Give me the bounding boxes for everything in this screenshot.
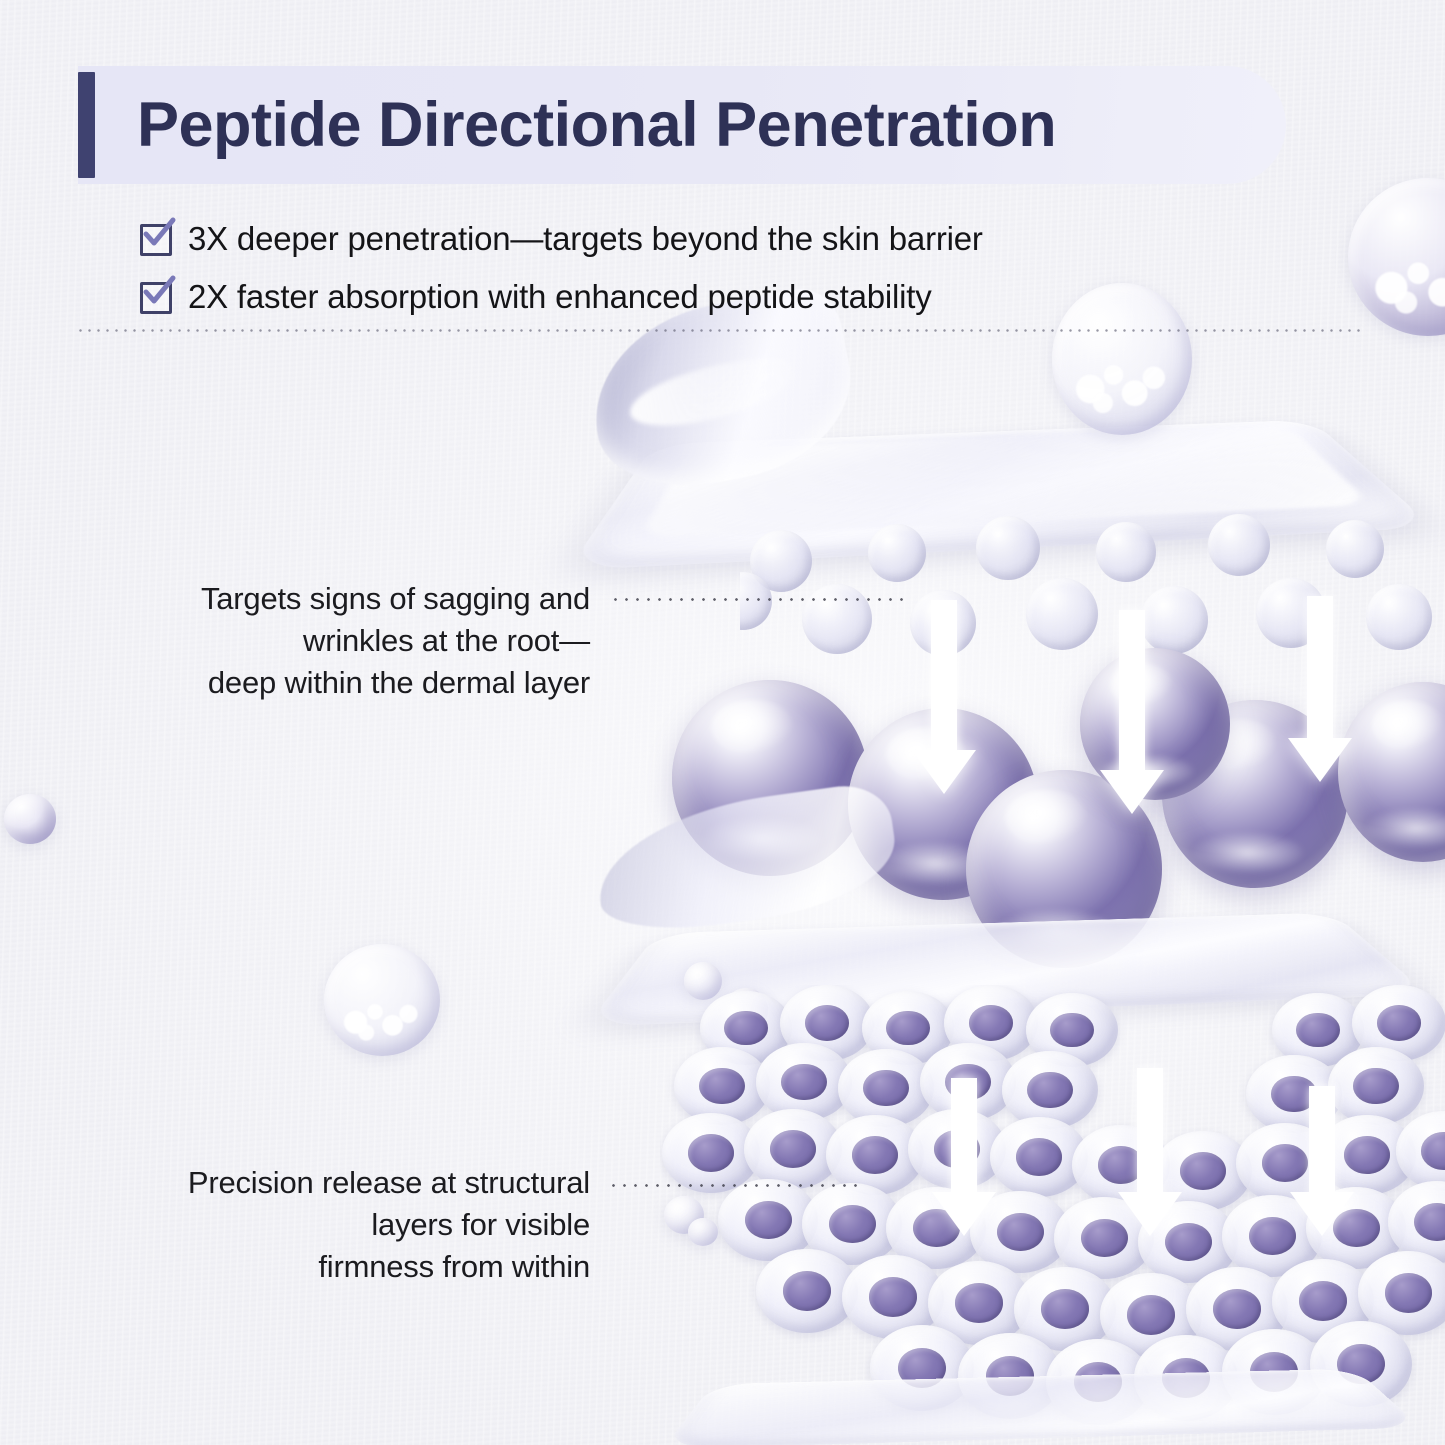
callout-line: layers for visible <box>80 1204 590 1246</box>
dermal-layer-callout: Targets signs of sagging and wrinkles at… <box>110 578 590 704</box>
droplet-foam <box>1367 244 1445 317</box>
floating-droplet <box>324 944 440 1056</box>
callout-line: deep within the dermal layer <box>110 662 590 704</box>
title-accent-bar <box>78 72 95 178</box>
page-title: Peptide Directional Penetration <box>137 66 1056 184</box>
list-item: 2X faster absorption with enhanced pepti… <box>140 270 1100 324</box>
callout-line: Targets signs of sagging and <box>110 578 590 620</box>
callout-line: Precision release at structural <box>80 1162 590 1204</box>
list-item-label: 2X faster absorption with enhanced pepti… <box>188 278 932 316</box>
checkbox-checked-icon <box>140 224 171 255</box>
structural-layer-callout: Precision release at structural layers f… <box>80 1162 590 1288</box>
downward-penetration-arrow <box>912 600 976 800</box>
feature-bullet-list: 3X deeper penetration—targets beyond the… <box>140 212 1100 328</box>
glass-sheet-curl <box>589 780 903 941</box>
downward-penetration-arrow <box>1118 1068 1182 1238</box>
dotted-leader-line <box>610 598 910 601</box>
downward-penetration-arrow <box>1288 596 1352 786</box>
droplet-foam <box>338 991 426 1043</box>
infographic-canvas: Peptide Directional Penetration 3X deepe… <box>0 0 1445 1445</box>
dotted-divider <box>76 329 1366 332</box>
dotted-leader-line <box>608 1184 860 1187</box>
checkbox-checked-icon <box>140 282 171 313</box>
list-item-label: 3X deeper penetration—targets beyond the… <box>188 220 983 258</box>
floating-droplet <box>688 1218 718 1246</box>
callout-line: firmness from within <box>80 1246 590 1288</box>
floating-droplet <box>1348 178 1445 336</box>
callout-line: wrinkles at the root— <box>110 620 590 662</box>
droplet-foam <box>1069 347 1175 417</box>
downward-penetration-arrow <box>932 1078 996 1238</box>
downward-penetration-arrow <box>1290 1086 1354 1238</box>
floating-droplet <box>4 794 56 844</box>
downward-penetration-arrow <box>1100 610 1164 820</box>
list-item: 3X deeper penetration—targets beyond the… <box>140 212 1100 266</box>
